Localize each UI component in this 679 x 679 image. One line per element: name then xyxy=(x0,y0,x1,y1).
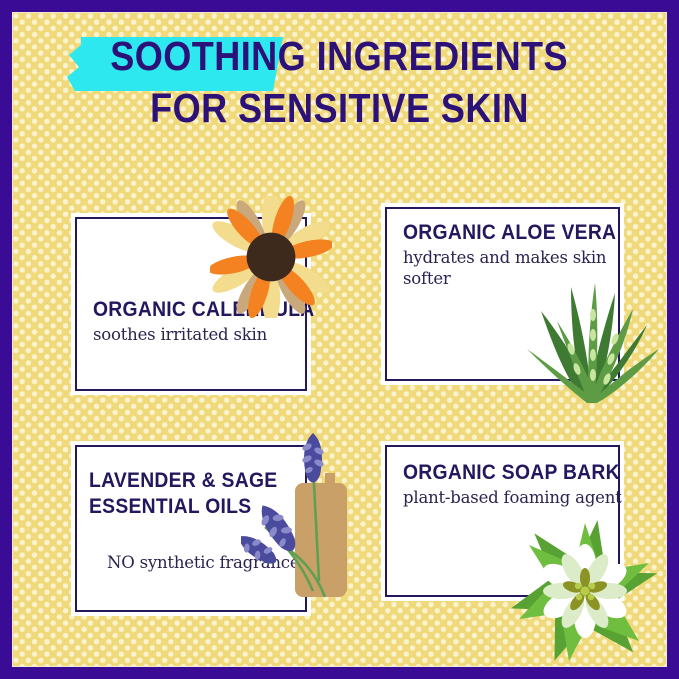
poster-inner-panel: SOOTHING INGREDIENTS FOR SENSITIVE SKIN … xyxy=(12,12,667,667)
title-line1-wrapper: SOOTHING INGREDIENTS xyxy=(79,33,599,79)
card-heading-line-1: LAVENDER & SAGE xyxy=(89,469,291,492)
card-text-block: ORGANIC CALENDULA soothes irritated skin xyxy=(93,298,309,345)
title-line-1: SOOTHING INGREDIENTS xyxy=(111,33,569,79)
card-heading: ORGANIC CALENDULA xyxy=(93,298,292,321)
card-body: NO synthetic fragrances xyxy=(107,552,309,573)
card-calendula[interactable]: ORGANIC CALENDULA soothes irritated skin xyxy=(71,213,311,395)
poster-root: SOOTHING INGREDIENTS FOR SENSITIVE SKIN … xyxy=(0,0,679,679)
card-text-block: ORGANIC ALOE VERA hydrates and makes ski… xyxy=(403,221,621,289)
card-body: hydrates and makes skin softer xyxy=(403,247,621,289)
title-line-2: FOR SENSITIVE SKIN xyxy=(52,85,627,131)
card-heading: ORGANIC SOAP BARK xyxy=(403,461,605,484)
card-heading-line-2: ESSENTIAL OILS xyxy=(89,495,291,518)
card-essential-oils[interactable]: LAVENDER & SAGE ESSENTIAL OILS NO synthe… xyxy=(71,441,311,616)
card-body: soothes irritated skin xyxy=(93,324,309,345)
card-aloe-vera[interactable]: ORGANIC ALOE VERA hydrates and makes ski… xyxy=(381,203,624,385)
card-heading: ORGANIC ALOE VERA xyxy=(403,221,604,244)
card-text-block: LAVENDER & SAGE ESSENTIAL OILS NO synthe… xyxy=(89,469,309,573)
title-block: SOOTHING INGREDIENTS FOR SENSITIVE SKIN xyxy=(13,33,666,131)
card-text-block: ORGANIC SOAP BARK plant-based foaming ag… xyxy=(403,461,623,508)
card-soap-bark[interactable]: ORGANIC SOAP BARK plant-based foaming ag… xyxy=(381,441,624,601)
card-body: plant-based foaming agent xyxy=(403,487,623,508)
